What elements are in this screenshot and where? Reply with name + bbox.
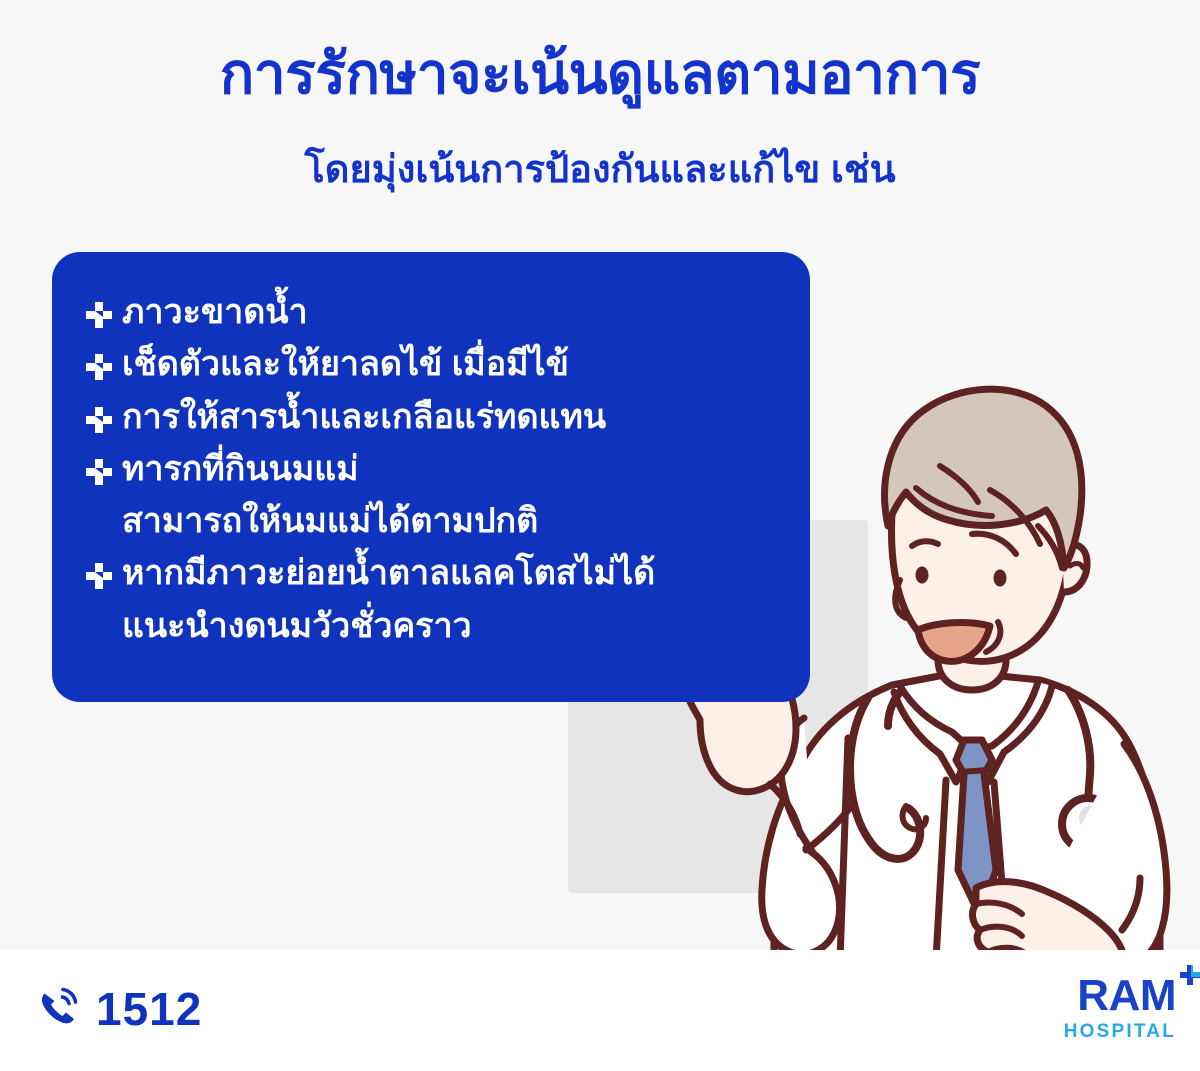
list-item-line: ทารกที่กินนมแม่ <box>122 445 359 493</box>
hotline-block[interactable]: 1512 <box>36 982 202 1036</box>
list-item-continuation: สามารถให้นมแม่ได้ตามปกติ <box>84 497 780 545</box>
hotline-number: 1512 <box>96 982 202 1036</box>
list-item-line: แนะนำงดนมวัวชั่วคราว <box>122 602 472 650</box>
cross-bullet-icon <box>84 457 114 487</box>
page-subtitle: โดยมุ่งเน้นการป้องกันและแก้ไข เช่น <box>0 148 1200 194</box>
list-item: ทารกที่กินนมแม่ <box>84 445 780 493</box>
footer-bar: 1512 RAM HOSPITAL <box>0 950 1200 1071</box>
cross-bullet-icon <box>84 405 114 435</box>
poster-root: การรักษาจะเน้นดูแลตามอาการ โดยมุ่งเน้นกา… <box>0 0 1200 1071</box>
logo-hospital-text: HOSPITAL <box>1064 1022 1176 1041</box>
treatment-list-card: ภาวะขาดน้ำ เช็ดตัวและให้ยาลดไข้ เมื่อมีไ… <box>52 252 810 702</box>
list-item-line: หากมีภาวะย่อยน้ำตาลแลคโตสไม่ได้ <box>122 549 655 597</box>
page-title: การรักษาจะเน้นดูแลตามอาการ <box>0 42 1200 108</box>
list-item: ภาวะขาดน้ำ <box>84 288 780 336</box>
cross-bullet-icon <box>84 352 114 382</box>
list-item: การให้สารน้ำและเกลือแร่ทดแทน <box>84 393 780 441</box>
medical-cross-icon <box>1178 964 1200 993</box>
list-item-line: การให้สารน้ำและเกลือแร่ทดแทน <box>122 393 606 441</box>
list-item: เช็ดตัวและให้ยาลดไข้ เมื่อมีไข้ <box>84 340 780 388</box>
logo-ram-text: RAM <box>1077 974 1176 1018</box>
phone-ring-icon <box>36 984 82 1035</box>
list-item-line: ภาวะขาดน้ำ <box>122 288 308 336</box>
list-item: หากมีภาวะย่อยน้ำตาลแลคโตสไม่ได้ <box>84 549 780 597</box>
list-item-line: เช็ดตัวและให้ยาลดไข้ เมื่อมีไข้ <box>122 340 569 388</box>
list-item-continuation: แนะนำงดนมวัวชั่วคราว <box>84 602 780 650</box>
list-item-line: สามารถให้นมแม่ได้ตามปกติ <box>122 497 538 545</box>
cross-bullet-icon <box>84 561 114 591</box>
cross-bullet-icon <box>84 300 114 330</box>
ram-hospital-logo[interactable]: RAM HOSPITAL <box>1064 974 1176 1041</box>
